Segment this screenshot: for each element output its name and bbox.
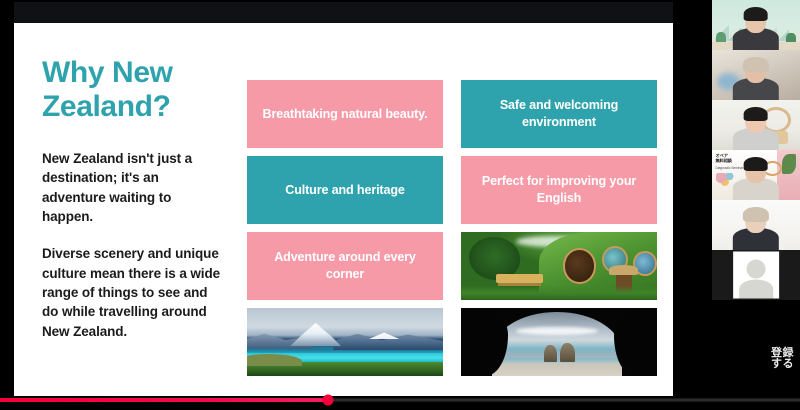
register-cta-label[interactable]: 登録する	[750, 348, 794, 371]
participant-silhouette	[737, 159, 776, 200]
participant-tile-2[interactable]	[712, 50, 800, 100]
participant-tile-3[interactable]	[712, 100, 800, 150]
participant-tile-6[interactable]	[712, 250, 800, 300]
participant-tile-5[interactable]	[712, 200, 800, 250]
video-off-background	[712, 250, 800, 300]
slide-tile-grid: Breathtaking natural beauty. Safe and we…	[247, 80, 657, 376]
cloud-shape	[516, 327, 599, 335]
grass-foreground	[461, 285, 657, 300]
presentation-slide: Why New Zealand? New Zealand isn't just …	[14, 23, 673, 396]
participant-video-rail[interactable]: オペア無料相談 Diagnostic Seminar	[712, 0, 800, 410]
virtual-background-warm-room	[712, 50, 800, 100]
slide-tile-safe-and-welcoming-environment: Safe and welcoming environment	[461, 80, 657, 148]
slide-tile-culture-and-heritage: Culture and heritage	[247, 156, 443, 224]
slide-tile-breathtaking-natural-beauty: Breathtaking natural beauty.	[247, 80, 443, 148]
scrubber-handle[interactable]	[323, 395, 334, 406]
slide-paragraph-1: New Zealand isn't just a destination; it…	[42, 149, 222, 226]
avatar	[733, 252, 779, 299]
virtual-background-mint	[712, 0, 800, 50]
snow-peak-shape	[290, 323, 341, 346]
slide-title: Why New Zealand?	[42, 56, 222, 123]
video-player-screen: Why New Zealand? New Zealand isn't just …	[0, 0, 800, 410]
shared-screen-stage: Why New Zealand? New Zealand isn't just …	[0, 0, 712, 410]
sand-foreground	[492, 363, 621, 376]
playback-scrubber[interactable]	[0, 398, 800, 402]
presentation-top-bar	[14, 2, 673, 23]
sea-stack-rock	[560, 343, 576, 362]
participant-silhouette	[737, 59, 776, 100]
virtual-background-white-room	[712, 100, 800, 150]
scrubber-progress	[0, 398, 328, 402]
participant-silhouette	[737, 9, 776, 50]
virtual-background-branded-slide: オペア無料相談 Diagnostic Seminar	[712, 150, 800, 200]
grass-hill-shape	[247, 354, 302, 366]
sea-stack-rock	[544, 345, 557, 362]
virtual-background-plain-room	[712, 200, 800, 250]
default-avatar-icon	[733, 252, 779, 299]
slide-tile-adventure-around-every-corner: Adventure around every corner	[247, 232, 443, 300]
participant-tile-4[interactable]: オペア無料相談 Diagnostic Seminar	[712, 150, 800, 200]
slide-paragraph-2: Diverse scenery and unique culture mean …	[42, 244, 222, 340]
participant-tile-1[interactable]	[712, 0, 800, 50]
glasses-icon	[747, 216, 765, 219]
arch-opening	[492, 312, 621, 376]
mountain-ridge-right	[333, 331, 443, 350]
snow-cap-shape	[369, 332, 400, 339]
slide-photo-mountain-lake	[247, 308, 443, 376]
glasses-icon	[747, 16, 765, 19]
participant-silhouette	[737, 109, 776, 150]
cave-shadow-right	[614, 308, 657, 376]
slide-photo-beach-arch	[461, 308, 657, 376]
round-door-shape	[563, 248, 596, 283]
participant-silhouette	[737, 209, 776, 250]
slide-tile-perfect-for-improving-your-english: Perfect for improving your English	[461, 156, 657, 224]
bench-shape	[496, 274, 543, 283]
slide-photo-hobbiton-hillside	[461, 232, 657, 300]
slide-text-column: Why New Zealand? New Zealand isn't just …	[42, 56, 222, 359]
